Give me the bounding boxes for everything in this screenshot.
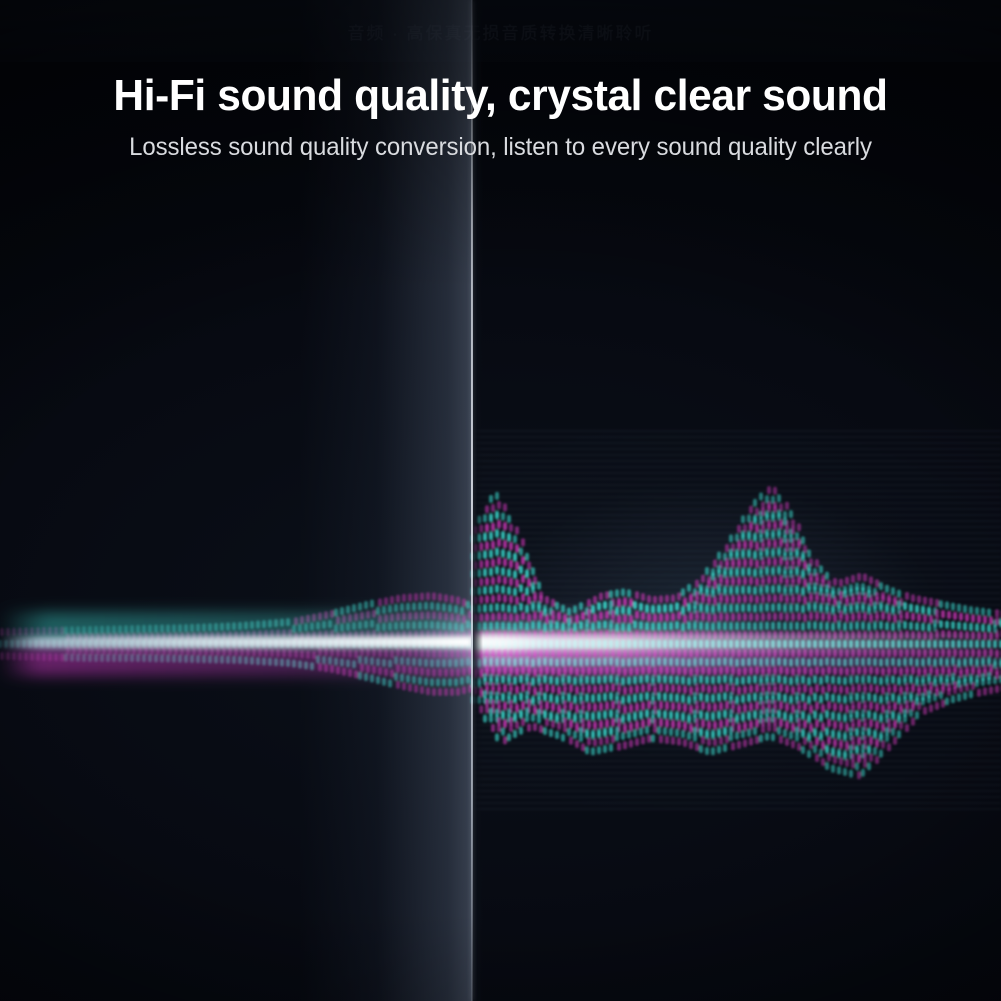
hero-text-block: Hi-Fi sound quality, crystal clear sound… xyxy=(0,72,1001,162)
right-core-line xyxy=(473,634,1001,650)
left-core-line xyxy=(0,636,474,648)
promo-banner: 音频 · 高保真无损音质转换清晰聆听 Hi-Fi sound quality, … xyxy=(0,0,1001,1001)
header-caption: 音频 · 高保真无损音质转换清晰聆听 xyxy=(347,19,653,44)
left-magenta-glow xyxy=(0,644,474,676)
page-title: Hi-Fi sound quality, crystal clear sound xyxy=(18,72,984,120)
page-subtitle: Lossless sound quality conversion, liste… xyxy=(20,133,981,162)
header-strip: 音频 · 高保真无损音质转换清晰聆听 xyxy=(0,0,1001,62)
